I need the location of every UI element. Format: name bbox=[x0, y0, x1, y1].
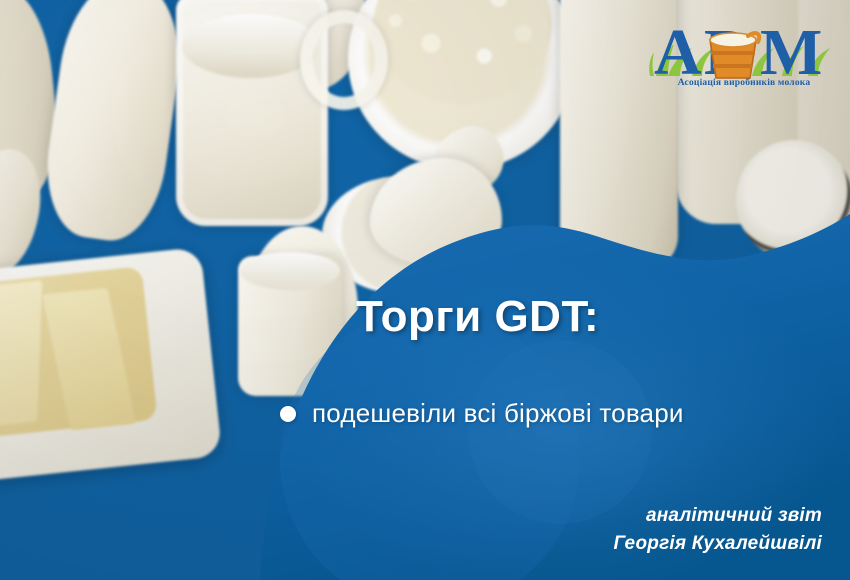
avm-logo[interactable]: А В М Асоціація виробників молока bbox=[648, 6, 840, 98]
bullet-point-icon bbox=[280, 406, 296, 422]
credit-line-2: Георгія Кухалейшвілі bbox=[614, 530, 822, 558]
gdt-report-banner: А В М Асоціація виробників молока Торги … bbox=[0, 0, 850, 580]
milk-bucket-icon bbox=[710, 33, 759, 78]
headline-subtitle: подешевіли всі біржові товари bbox=[312, 398, 684, 429]
headline-subline: подешевіли всі біржові товари bbox=[280, 398, 684, 429]
headline-title: Торги GDT: bbox=[356, 292, 599, 342]
report-credit: аналітичний звіт Георгія Кухалейшвілі bbox=[614, 502, 822, 557]
avm-logo-tagline: Асоціація виробників молока bbox=[648, 78, 840, 88]
credit-line-1: аналітичний звіт bbox=[614, 502, 822, 530]
